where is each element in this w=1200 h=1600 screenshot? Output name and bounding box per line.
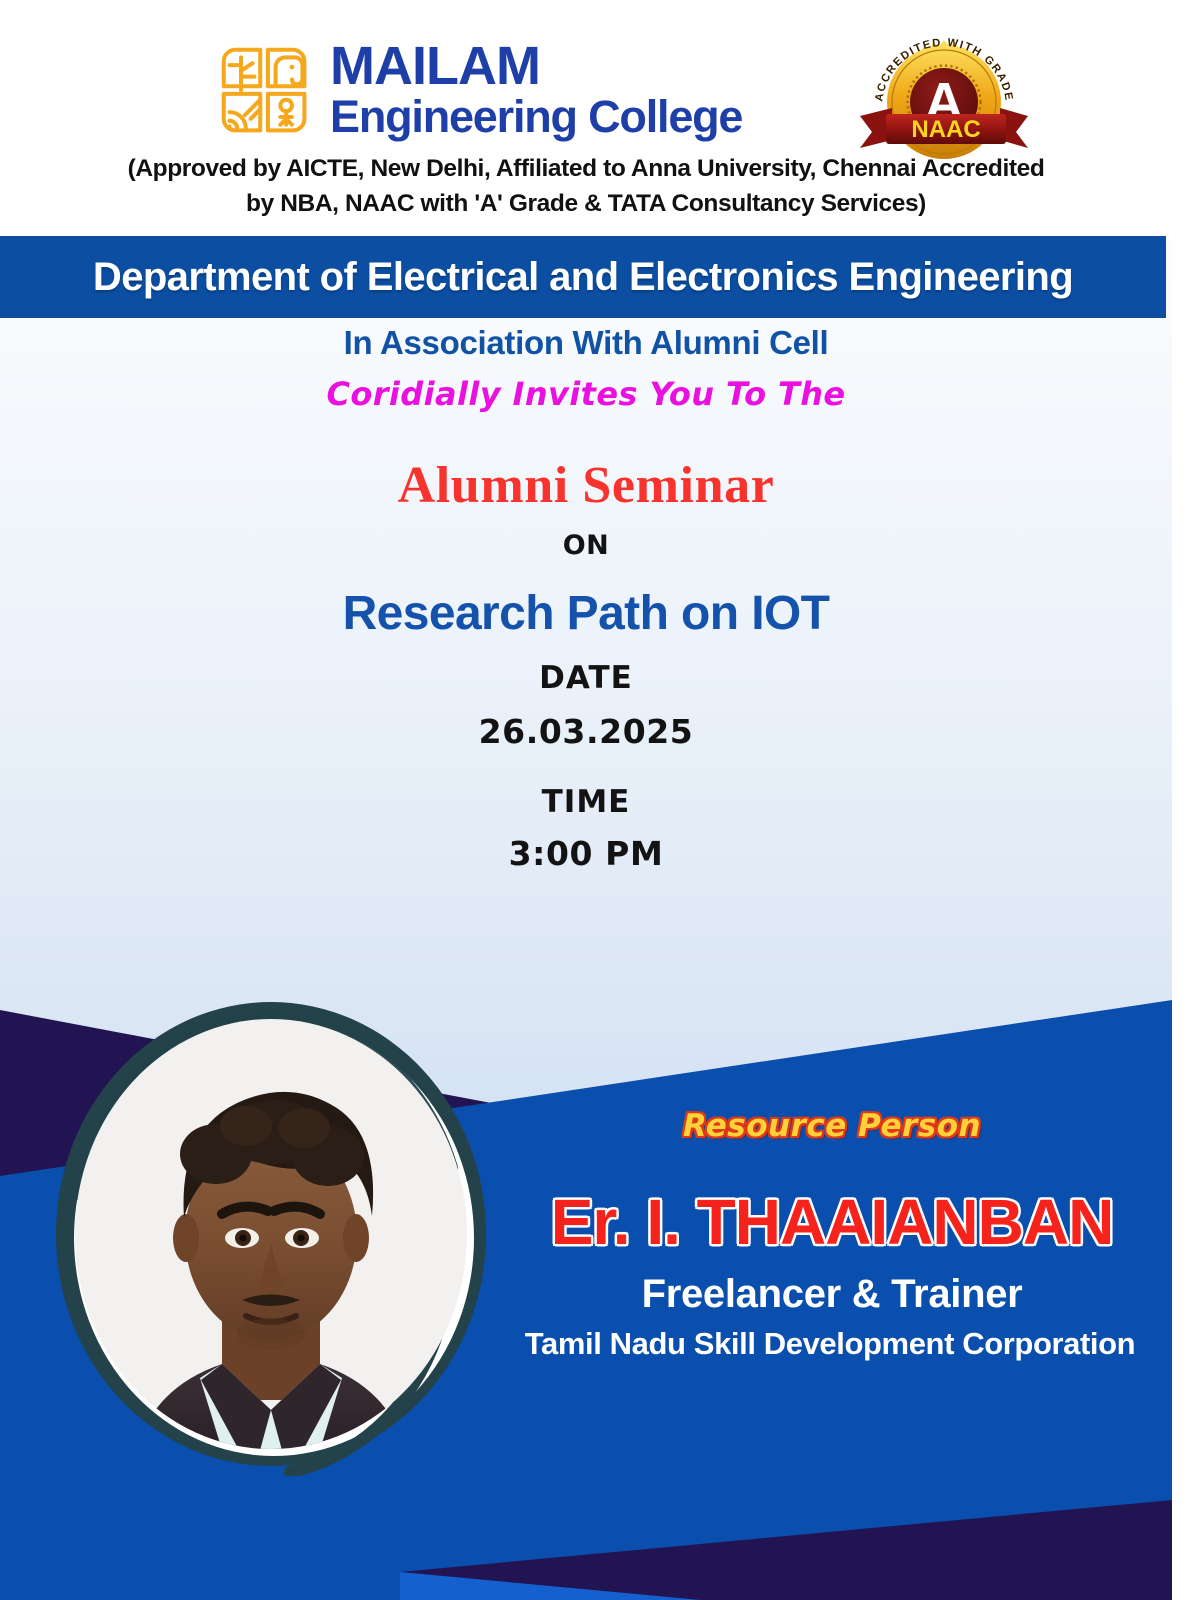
college-name-line1: MAILAM (330, 40, 810, 93)
on-label: ON (0, 530, 1172, 561)
department-title: Department of Electrical and Electronics… (0, 255, 1166, 300)
date-value: 26.03.2025 (0, 712, 1172, 751)
invitation-line: Coridially Invites You To The (0, 375, 1172, 413)
date-label: DATE (0, 660, 1172, 696)
speaker-role: Freelancer & Trainer (492, 1272, 1172, 1317)
seminar-poster: MAILAM Engineering College (0, 0, 1200, 1600)
event-type-title: Alumni Seminar (0, 456, 1172, 515)
department-banner: Department of Electrical and Electronics… (0, 236, 1166, 318)
association-line: In Association With Alumni Cell (0, 324, 1172, 362)
college-logo-row: MAILAM Engineering College (0, 18, 1172, 140)
svg-text:NAAC: NAAC (911, 116, 980, 143)
speaker-organization: Tamil Nadu Skill Development Corporation (480, 1326, 1180, 1362)
seminar-topic: Research Path on IOT (0, 586, 1172, 641)
college-name-line2: Engineering College (330, 95, 810, 139)
time-value: 3:00 PM (0, 834, 1172, 873)
speaker-name: Er. I. THAAIANBAN (492, 1185, 1172, 1259)
resource-person-label: Resource Person (492, 1108, 1172, 1144)
mailam-grid-logo (218, 44, 314, 140)
speaker-portrait (36, 986, 506, 1476)
approval-text: (Approved by AICTE, New Delhi, Affiliate… (40, 152, 1132, 222)
poster-header: MAILAM Engineering College (0, 0, 1200, 236)
naac-accreditation-seal: ACCREDITED WITH GRADE A NAAC (852, 36, 1042, 164)
approval-line-1: (Approved by AICTE, New Delhi, Affiliate… (40, 152, 1132, 187)
time-label: TIME (0, 784, 1172, 820)
college-wordmark: MAILAM Engineering College (330, 40, 810, 139)
approval-line-2: by NBA, NAAC with 'A' Grade & TATA Consu… (40, 187, 1132, 222)
